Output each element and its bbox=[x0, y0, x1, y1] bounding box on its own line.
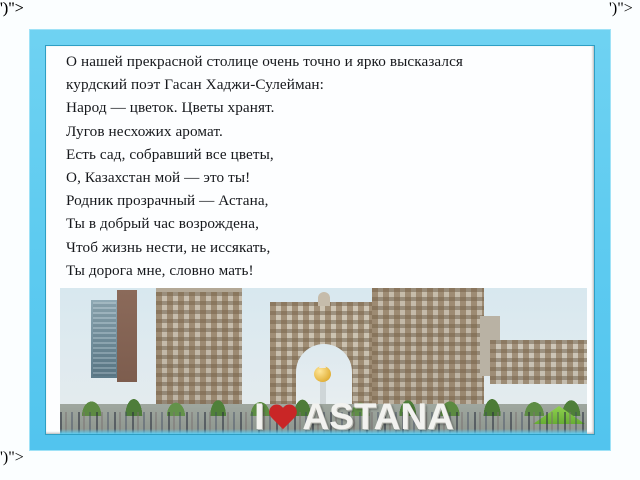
photo-bottom-fade bbox=[60, 429, 587, 434]
astana-cityscape-photo: I ASTANA bbox=[60, 288, 587, 434]
poem-line: О нашей прекрасной столице очень точно и… bbox=[66, 50, 578, 73]
ornament-top: ')"> bbox=[0, 0, 640, 31]
poem-line: Чтоб жизнь нести, не иссякать, bbox=[66, 236, 578, 259]
poem-text-block: О нашей прекрасной столице очень точно и… bbox=[66, 50, 578, 282]
poem-line: Лугов несхожих аромат. bbox=[66, 120, 578, 143]
ornament-left: ')"> bbox=[0, 0, 31, 480]
i-love-astana-sign: I ASTANA bbox=[233, 392, 475, 434]
glass-office-tower bbox=[91, 300, 118, 378]
slide: ')"> ')"> ')"> ')"> О нашей прекрасной с… bbox=[0, 0, 640, 480]
arch-finial bbox=[318, 292, 330, 306]
poem-line: Родник прозрачный — Астана, bbox=[66, 189, 578, 212]
poem-line: Народ — цветок. Цветы хранят. bbox=[66, 96, 578, 119]
poem-line: О, Казахстан мой — это ты! bbox=[66, 166, 578, 189]
ornament-bottom: ')"> bbox=[0, 449, 640, 480]
poem-line: Есть сад, собравший все цветы, bbox=[66, 143, 578, 166]
ornament-right: ')"> bbox=[609, 0, 640, 480]
poem-line: Ты в добрый час возрождена, bbox=[66, 212, 578, 235]
poem-line: курдский поэт Гасан Хаджи-Сулейман: bbox=[66, 73, 578, 96]
poem-line: Ты дорога мне, словно мать! bbox=[66, 259, 578, 282]
